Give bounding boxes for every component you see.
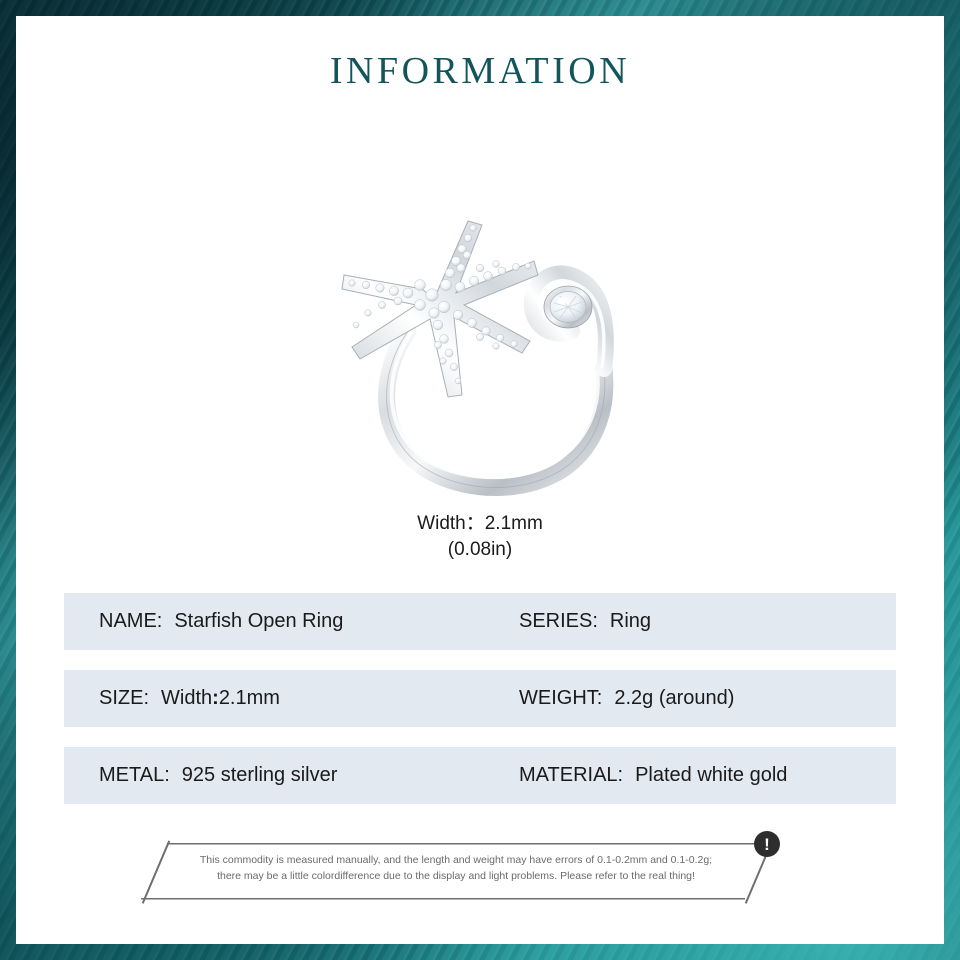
content-canvas: INFORMATION (16, 16, 944, 944)
spec-cell-metal: METAL: 925 sterling silver (99, 747, 337, 804)
spec-label-name: NAME: (99, 610, 162, 633)
disclaimer-banner: This commodity is measured manually, and… (141, 843, 771, 901)
width-caption-line-2: (0.08in) (16, 537, 944, 563)
spec-cell-weight: WEIGHT: 2.2g (around) (519, 670, 734, 727)
page-title: INFORMATION (16, 49, 944, 93)
spec-cell-name: NAME: Starfish Open Ring (99, 593, 343, 650)
spec-value-series: Ring (610, 610, 651, 633)
spec-label-metal: METAL: (99, 764, 170, 787)
table-row: SIZE: Width:2.1mm WEIGHT: 2.2g (around) (64, 670, 896, 727)
disclaimer-line-2: there may be a little colordifference du… (183, 868, 729, 884)
table-row: METAL: 925 sterling silver MATERIAL: Pla… (64, 747, 896, 804)
spec-cell-size: SIZE: Width:2.1mm (99, 670, 280, 727)
spec-value-size-number: 2.1mm (219, 687, 280, 709)
spec-label-material: MATERIAL: (519, 764, 623, 787)
spec-cell-material: MATERIAL: Plated white gold (519, 747, 787, 804)
spec-value-material: Plated white gold (635, 764, 787, 787)
disclaimer-text: This commodity is measured manually, and… (183, 852, 729, 884)
specification-table: NAME: Starfish Open Ring SERIES: Ring SI… (64, 593, 896, 824)
table-row: NAME: Starfish Open Ring SERIES: Ring (64, 593, 896, 650)
width-caption: Width：2.1mm (0.08in) (16, 511, 944, 563)
width-caption-line-1: Width：2.1mm (16, 511, 944, 537)
spec-cell-series: SERIES: Ring (519, 593, 651, 650)
spec-value-size: Width:2.1mm (161, 687, 280, 710)
information-page: INFORMATION (0, 0, 960, 960)
warning-exclamation-icon: ! (754, 831, 780, 857)
spec-value-size-separator: : (212, 687, 219, 709)
spec-value-name: Starfish Open Ring (174, 610, 343, 633)
product-image-starfish-open-ring (316, 181, 646, 501)
spec-label-size: SIZE: (99, 687, 149, 710)
spec-value-metal: 925 sterling silver (182, 764, 338, 787)
spec-value-size-prefix: Width (161, 687, 212, 709)
spec-label-weight: WEIGHT: (519, 687, 602, 710)
spec-label-series: SERIES: (519, 610, 598, 633)
spec-value-weight: 2.2g (around) (614, 687, 734, 710)
disclaimer-line-1: This commodity is measured manually, and… (183, 852, 729, 868)
